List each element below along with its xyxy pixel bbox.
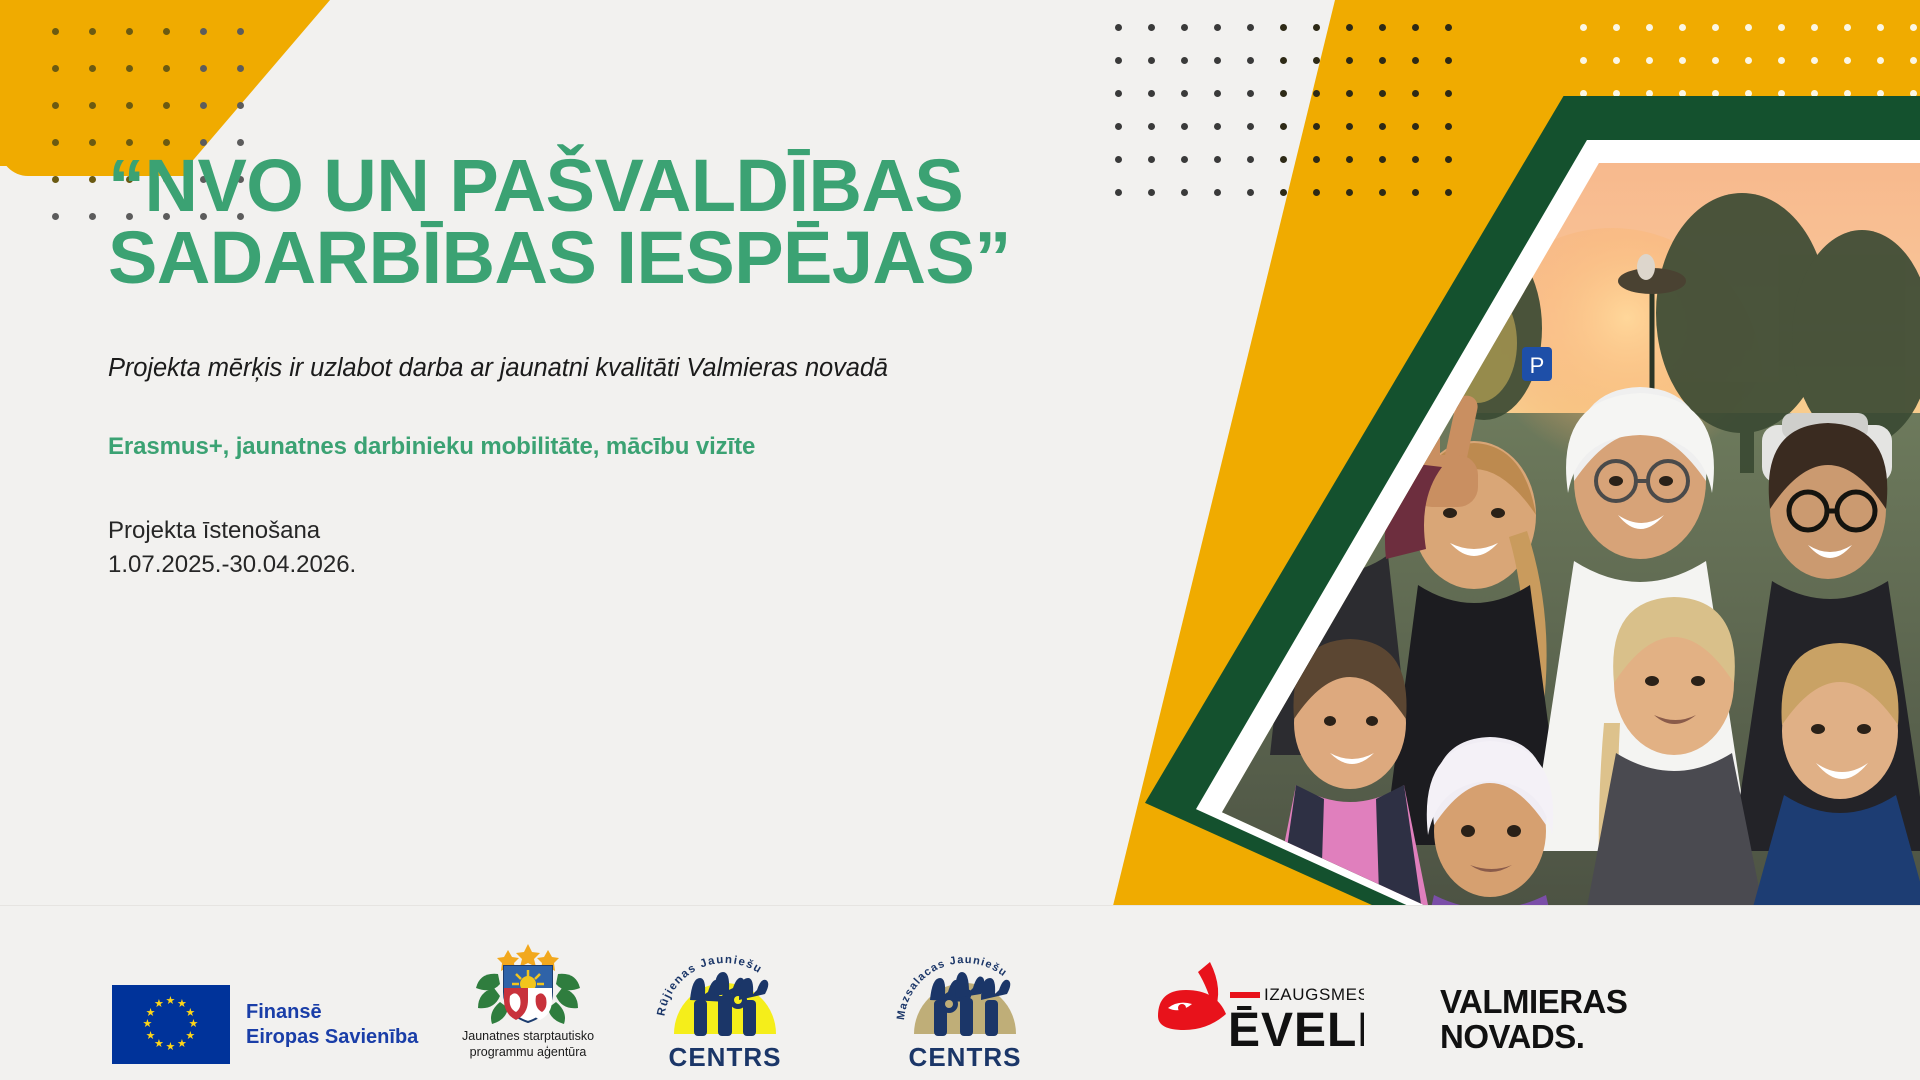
project-goal: Projekta mērķis ir uzlabot darba ar jaun…	[108, 354, 988, 383]
logo-mazsalaca-youth-centre: Mazsalacas Jauniešu CENTRS	[890, 938, 1040, 1073]
rujiena-centre-icon: Rūjienas Jauniešu CENTRS	[650, 938, 800, 1073]
title-line-2: SADARBĪBAS IESPĒJAS”	[108, 222, 988, 294]
evele-icon: IZAUGSMES CENTRS ĒVELE	[1152, 960, 1364, 1052]
logo-evele: IZAUGSMES CENTRS ĒVELE	[1152, 960, 1364, 1052]
jspa-caption-line-1: Jaunatnes starptautisko	[462, 1029, 594, 1045]
latvia-coat-of-arms-icon	[474, 940, 582, 1024]
period-dates: 1.07.2025.-30.04.2026.	[108, 548, 988, 582]
logo-eu-funding: ★★★★★★★★★★★★ Finansē Eiropas Savienība	[112, 985, 418, 1064]
logo-rujiena-youth-centre: Rūjienas Jauniešu CENTRS	[650, 938, 800, 1073]
title-line-1: “NVO UN PAŠVALDĪBAS	[108, 150, 988, 222]
eu-funding-line-1: Finansē	[246, 1000, 418, 1025]
poster-canvas: P	[0, 0, 1920, 1080]
text-column: “NVO UN PAŠVALDĪBAS SADARBĪBAS IESPĒJAS”…	[108, 150, 988, 582]
svg-text:P: P	[1530, 353, 1545, 378]
mazsalaca-centre-word: CENTRS	[909, 1042, 1022, 1072]
evele-name: ĒVELE	[1228, 1004, 1364, 1052]
mazsalaca-centre-icon: Mazsalacas Jauniešu CENTRS	[890, 938, 1040, 1073]
rujiena-centre-word: CENTRS	[669, 1042, 782, 1072]
logo-valmieras-novads: VALMIERAS NOVADS.	[1440, 985, 1627, 1055]
period-label: Projekta īstenošana	[108, 514, 988, 548]
jspa-caption-line-2: programmu aģentūra	[462, 1045, 594, 1061]
jspa-caption: Jaunatnes starptautisko programmu aģentū…	[462, 1029, 594, 1060]
page-title: “NVO UN PAŠVALDĪBAS SADARBĪBAS IESPĒJAS”	[108, 150, 988, 294]
valmiera-line-2: NOVADS.	[1440, 1020, 1627, 1055]
eu-funding-line-2: Eiropas Savienība	[246, 1025, 418, 1050]
evele-tagline: IZAUGSMES CENTRS	[1264, 985, 1364, 1004]
eu-flag-icon: ★★★★★★★★★★★★	[112, 985, 230, 1064]
valmiera-line-1: VALMIERAS	[1440, 985, 1627, 1020]
programme-info: Erasmus+, jaunatnes darbinieku mobilitāt…	[108, 433, 988, 461]
logo-jspa: Jaunatnes starptautisko programmu aģentū…	[462, 940, 594, 1060]
project-period: Projekta īstenošana 1.07.2025.-30.04.202…	[108, 514, 988, 582]
eu-funding-text: Finansē Eiropas Savienība	[246, 1000, 418, 1050]
